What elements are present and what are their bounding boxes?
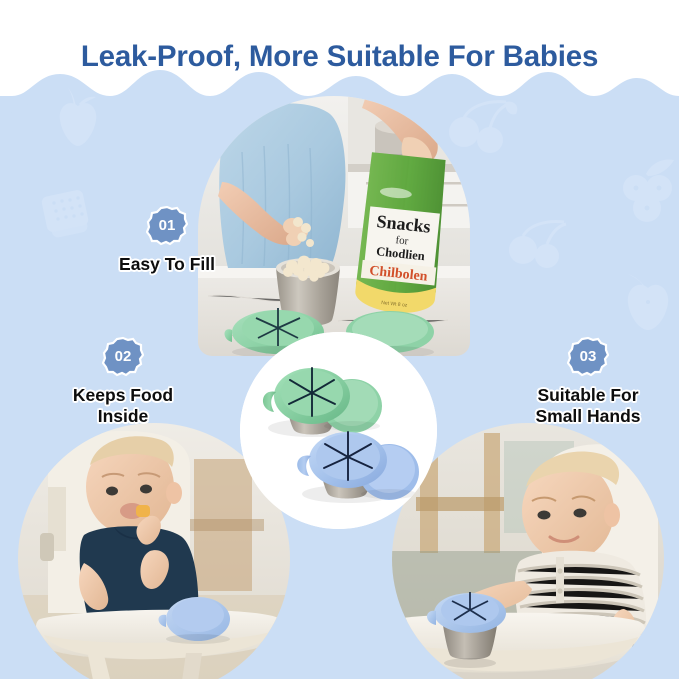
apple-motif-right bbox=[620, 268, 676, 334]
feature-label-line1: Keeps Food bbox=[48, 385, 198, 406]
product-infographic: Leak-Proof, More Suitable For Babies bbox=[0, 0, 679, 679]
feature-label-line1: Easy To Fill bbox=[92, 254, 242, 275]
product-hero-circle bbox=[240, 332, 437, 529]
feature-label-line1: Suitable For bbox=[512, 385, 664, 406]
page-title: Leak-Proof, More Suitable For Babies bbox=[0, 40, 679, 74]
feature-label: Suitable For Small Hands bbox=[512, 385, 664, 426]
apple-motif bbox=[52, 88, 104, 150]
badge-03: 03 bbox=[567, 336, 609, 378]
feature-01: 01 Easy To Fill bbox=[92, 205, 242, 275]
feature-02: 02 Keeps Food Inside bbox=[48, 336, 198, 426]
feature-label: Keeps Food Inside bbox=[48, 385, 198, 426]
feature-03: 03 Suitable For Small Hands bbox=[512, 336, 664, 426]
feature-label: Easy To Fill bbox=[92, 254, 242, 275]
badge-01: 01 bbox=[146, 205, 188, 247]
berry-motif bbox=[618, 158, 676, 226]
badge-number: 02 bbox=[102, 336, 144, 378]
badge-number: 03 bbox=[567, 336, 609, 378]
feature-label-line2: Inside bbox=[48, 406, 198, 427]
badge-02: 02 bbox=[102, 336, 144, 378]
cracker-motif bbox=[36, 183, 100, 243]
cherry-motif-lower bbox=[508, 218, 574, 270]
feature-label-line2: Small Hands bbox=[512, 406, 664, 427]
biscuit-motif bbox=[8, 96, 54, 140]
badge-number: 01 bbox=[146, 205, 188, 247]
